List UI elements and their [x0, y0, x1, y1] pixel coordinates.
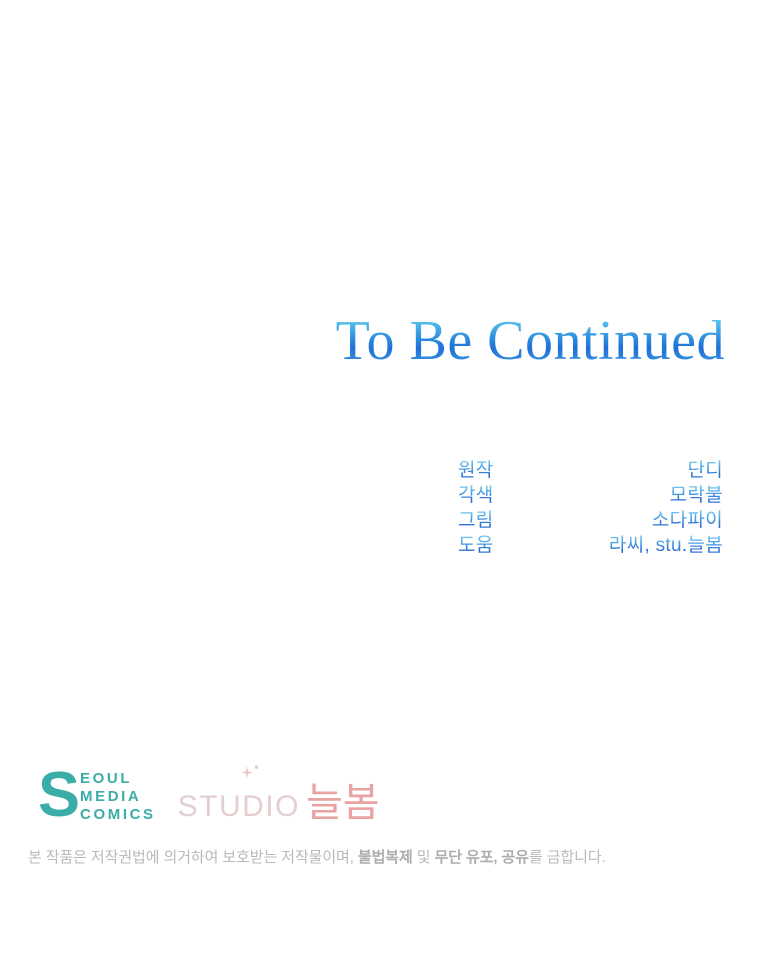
end-card-title-container: To Be Continued — [0, 312, 725, 371]
studio-wordmark: STUDIO — [178, 791, 300, 823]
end-card-title: To Be Continued — [336, 312, 725, 371]
credit-row: 그림 소다파이 — [458, 508, 723, 533]
logo-line-media: MEDIA — [80, 788, 156, 806]
credit-role-label: 각색 — [458, 483, 494, 508]
copyright-bold-unauthorized-distribution: 무단 유포, 공유 — [435, 849, 529, 866]
logo-line-seoul: EOUL — [80, 770, 156, 788]
credit-person-name: 라씨, stu.늘봄 — [609, 533, 723, 558]
credit-role-label: 원작 — [458, 458, 494, 483]
credit-row: 도움 라씨, stu.늘봄 — [458, 533, 723, 558]
seoul-media-comics-wordmark: EOUL MEDIA COMICS — [80, 764, 156, 827]
credit-person-name: 모락불 — [670, 483, 723, 508]
copyright-part-1: 본 작품은 저작권법에 의거하여 보호받는 저작물이며, — [28, 849, 358, 866]
credit-row: 원작 단디 — [458, 458, 723, 483]
logo-line-comics: COMICS — [80, 806, 156, 824]
credit-person-name: 단디 — [687, 458, 723, 483]
credit-role-label: 그림 — [458, 508, 494, 533]
credit-person-name: 소다파이 — [652, 508, 723, 533]
copyright-part-3: 를 금합니다. — [529, 849, 606, 866]
copyright-part-2: 및 — [413, 849, 435, 866]
credits-list: 원작 단디 각색 모락불 그림 소다파이 도움 라씨, stu.늘봄 — [458, 458, 723, 558]
copyright-bold-illegal-copy: 불법복제 — [358, 849, 413, 866]
copyright-notice: 본 작품은 저작권법에 의거하여 보호받는 저작물이며, 불법복제 및 무단 유… — [28, 847, 606, 869]
publisher-logo-bar: S EOUL MEDIA COMICS STUDIO 늘봄 — [38, 760, 380, 830]
studio-neulbom-logo: STUDIO 늘봄 — [178, 759, 380, 831]
seoul-media-comics-logo: S EOUL MEDIA COMICS — [38, 763, 156, 827]
seoul-media-comics-initial: S — [38, 765, 79, 825]
credit-role-label: 도움 — [458, 533, 494, 558]
credit-row: 각색 모락불 — [458, 483, 723, 508]
neulbom-brand-text: 늘봄 — [306, 783, 380, 823]
sparkle-icon — [240, 763, 262, 783]
